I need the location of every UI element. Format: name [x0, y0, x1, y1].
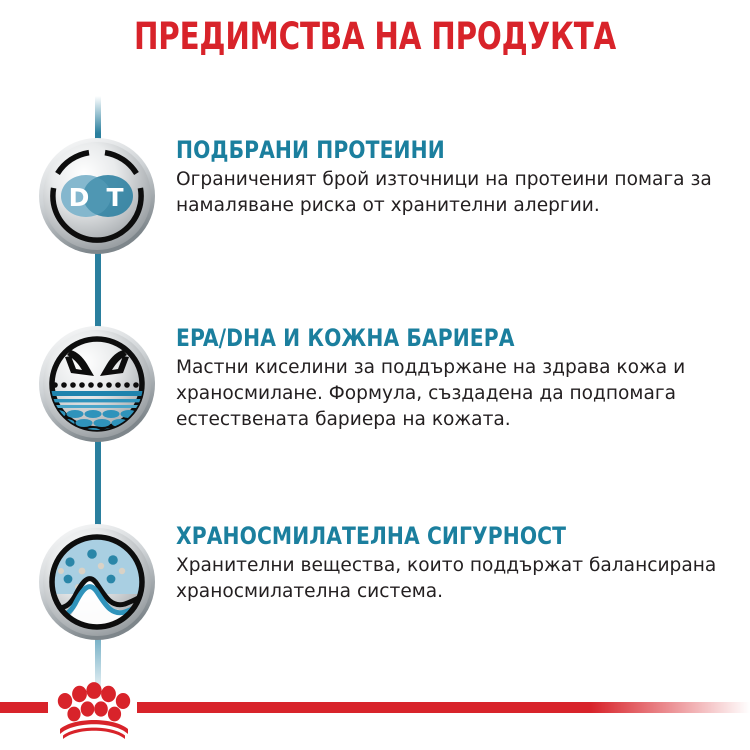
- benefit-copy-1: ПОДБРАНИ ПРОТЕИНИ Ограниченият брой изто…: [176, 136, 736, 219]
- royal-canin-crown-logo: [48, 679, 140, 741]
- footer-rule-right: [137, 702, 750, 713]
- page-title: ПРЕДИМСТВА НА ПРОДУКТА: [45, 15, 705, 58]
- product-benefits-panel: ПРЕДИМСТВА НА ПРОДУКТА: [0, 0, 750, 750]
- skin-barrier-icon: [37, 324, 157, 444]
- benefit-copy-3: ХРАНОСМИЛАТЕЛНА СИГУРНОСТ Хранителни вещ…: [176, 522, 736, 605]
- benefit-heading-1: ПОДБРАНИ ПРОТЕИНИ: [176, 136, 702, 164]
- benefit-body-2: Мастни киселини за поддържане на здрава …: [176, 355, 724, 433]
- benefit-body-3: Хранителни вещества, които поддържат бал…: [176, 553, 724, 605]
- benefit-copy-2: EPA/DHA И КОЖНА БАРИЕРА Мастни киселини …: [176, 324, 736, 433]
- benefit-heading-2: EPA/DHA И КОЖНА БАРИЕРА: [176, 324, 702, 352]
- digestive-security-icon: [37, 522, 157, 642]
- icon-letter-t: T: [106, 183, 123, 212]
- benefit-body-1: Ограниченият брой източници на протеини …: [176, 167, 724, 219]
- footer-rule-left: [0, 702, 48, 713]
- footer: [0, 655, 750, 750]
- benefit-heading-3: ХРАНОСМИЛАТЕЛНА СИГУРНОСТ: [176, 522, 702, 550]
- icon-letter-d: D: [69, 183, 90, 212]
- selected-proteins-icon: D T: [37, 136, 157, 256]
